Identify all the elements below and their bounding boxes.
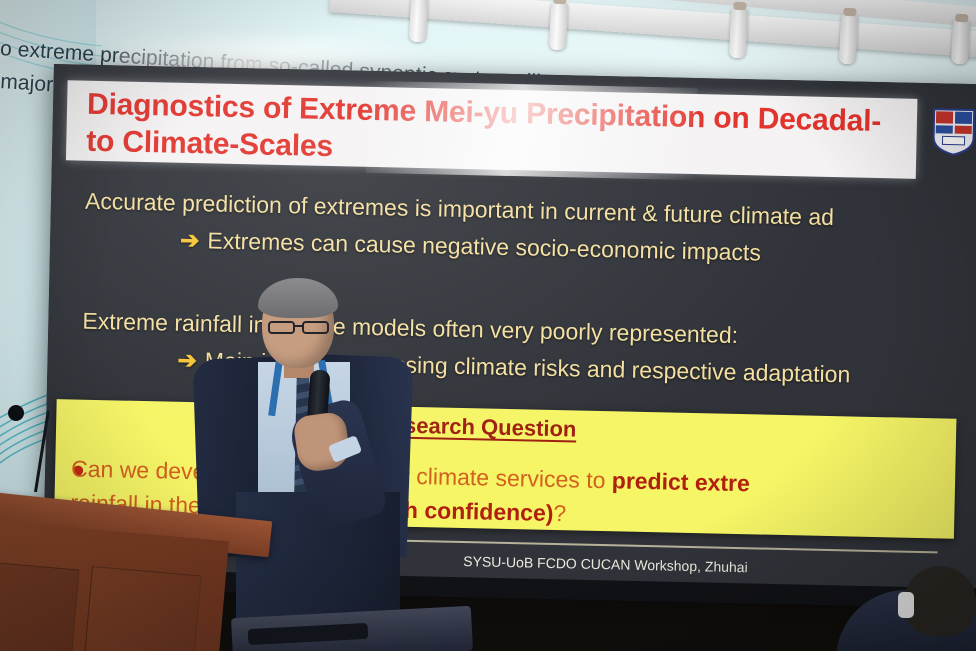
eyeglasses-icon [268,320,330,334]
audience-member-earpiece-icon [898,592,914,618]
rq-line1-bold: predict extre [612,467,751,496]
presentation-photo-scene: ° lso extreme precipitation from so-call… [0,0,976,651]
bullet-1-sub: Extremes can cause negative socio-econom… [207,227,761,265]
slide-title-banner: Diagnostics of Extreme Mei-yu Precipitat… [66,80,918,179]
research-question-heading: Research Question [56,405,896,449]
university-crest-logo-icon [930,107,976,156]
podium-microphone-head-icon [8,405,24,421]
audience-member-head [904,566,976,636]
podium-front-panel-right [84,566,202,651]
footer-event-text: SYSU-UoB FCDO CUCAN Workshop, Zhuhai [463,553,748,575]
bullet-1-sub-row: ➔Extremes can cause negative socio-econo… [84,220,976,277]
rq-line2-post: ? [553,500,566,526]
arrow-icon: ➔ [177,347,197,373]
podium-front-panel-left [0,560,80,651]
slide-title: Diagnostics of Extreme Mei-yu Precipitat… [86,86,917,178]
arrow-icon: ➔ [180,227,200,253]
